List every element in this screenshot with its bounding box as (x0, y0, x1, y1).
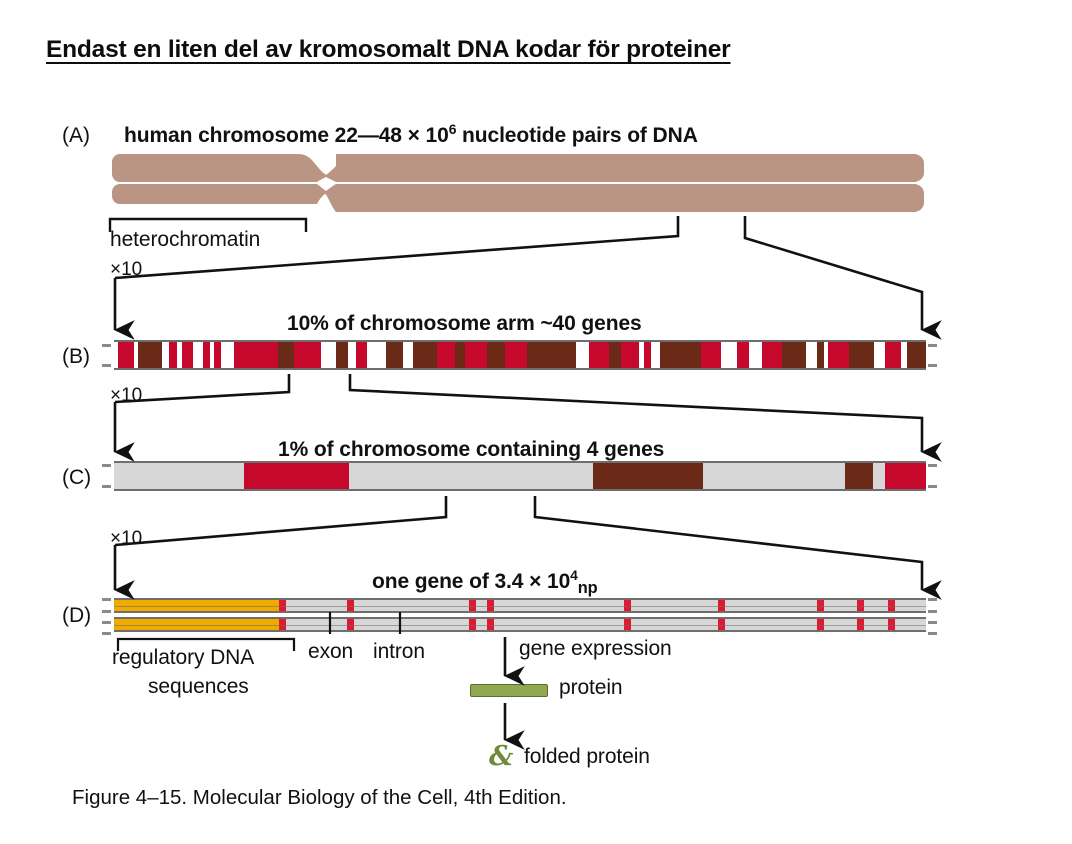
panel-b-band (356, 342, 367, 368)
zoom-label-b-to-c: ×10 (110, 385, 142, 407)
panel-c-heading: 1% of chromosome containing 4 genes (278, 438, 664, 462)
slide-canvas: Endast en liten del av kromosomalt DNA k… (0, 0, 1072, 844)
chromatid-upper-right (324, 154, 924, 182)
panel-a-heading-post: nucleotide pairs of DNA (456, 124, 697, 147)
panel-c-gene-band (885, 463, 926, 489)
panel-c-edge-dash-right-bottom (928, 485, 937, 488)
regulatory-dna-label-line2: sequences (148, 675, 249, 699)
panel-d-strand-bottom (114, 617, 926, 632)
panel-b-band (234, 342, 278, 368)
panel-b-band (828, 342, 848, 368)
panel-b-band (278, 342, 294, 368)
panel-b-band (885, 342, 901, 368)
protein-rod-graphic (470, 684, 548, 697)
heterochromatin-label: heterochromatin (110, 228, 260, 252)
figure-caption: Figure 4–15. Molecular Biology of the Ce… (72, 786, 567, 810)
chromatid-lower-right (324, 184, 924, 212)
chromatid-lower-left (112, 184, 328, 204)
panel-c-label: (C) (62, 466, 91, 490)
panel-b-band (621, 342, 639, 368)
panel-b-band (527, 342, 576, 368)
tie-c-to-d-left (115, 496, 446, 545)
panel-b-band (762, 342, 782, 368)
panel-b-edge-dash-left-top (102, 344, 111, 347)
panel-d-label: (D) (62, 604, 91, 628)
gene-expression-label: gene expression (519, 637, 672, 661)
panel-b-band (413, 342, 437, 368)
chromatid-upper-left (112, 154, 328, 182)
panel-c-gene-band (845, 463, 873, 489)
panel-d-heading-post: np (578, 579, 598, 597)
panel-b-band (138, 342, 162, 368)
protein-label: protein (559, 676, 623, 700)
panel-a-heading: human chromosome 22—48 × 106 nucleotide … (124, 124, 698, 148)
chromosome-22-graphic (112, 152, 924, 214)
panel-b-band (214, 342, 221, 368)
panel-d-edge-dash-l2 (102, 610, 111, 613)
panel-d-heading-pre: one gene of 3.4 × 10 (372, 570, 570, 593)
regulatory-dna-label-line1: regulatory DNA (112, 646, 254, 670)
panel-b-band (609, 342, 621, 368)
panel-a-label: (A) (62, 124, 90, 148)
panel-b-band (118, 342, 135, 368)
intron-label: intron (373, 640, 425, 664)
panel-c-genes (114, 461, 926, 491)
panel-b-band (737, 342, 749, 368)
panel-d-edge-dash-l4 (102, 632, 111, 635)
exon-label: exon (308, 640, 353, 664)
panel-b-edge-dash-right-top (928, 344, 937, 347)
panel-b-bands (114, 340, 926, 370)
panel-b-bar (114, 340, 926, 370)
panel-b-band (701, 342, 721, 368)
panel-b-edge-dash-right-bottom (928, 364, 937, 367)
panel-d-heading: one gene of 3.4 × 104np (372, 570, 598, 594)
panel-b-band (465, 342, 487, 368)
panel-b-band (182, 342, 194, 368)
panel-b-band (505, 342, 527, 368)
zoom-label-c-to-d: ×10 (110, 528, 142, 550)
panel-d-edge-dash-r2 (928, 610, 937, 613)
panel-c-edge-dash-right-top (928, 464, 937, 467)
panel-c-bar (114, 461, 926, 491)
panel-b-band (437, 342, 456, 368)
panel-b-band (817, 342, 824, 368)
panel-d-heading-exponent: 4 (570, 567, 578, 583)
folded-protein-icon: & (489, 743, 513, 770)
zoom-label-a-to-b: ×10 (110, 259, 142, 281)
panel-a-heading-pre: human chromosome 22—48 × 10 (124, 124, 449, 147)
panel-b-band (455, 342, 464, 368)
strand-midline (114, 606, 926, 608)
panel-b-band (169, 342, 177, 368)
panel-b-band (386, 342, 403, 368)
panel-d-edge-dash-r1 (928, 598, 937, 601)
panel-d-edge-dash-l1 (102, 598, 111, 601)
folded-protein-label: folded protein (524, 745, 650, 769)
panel-b-band (487, 342, 505, 368)
page-title: Endast en liten del av kromosomalt DNA k… (46, 36, 731, 64)
panel-b-edge-dash-left-bottom (102, 364, 111, 367)
panel-b-band (644, 342, 651, 368)
panel-b-band (907, 342, 926, 368)
panel-b-band (336, 342, 349, 368)
panel-c-gene-band (593, 463, 703, 489)
panel-b-band (660, 342, 701, 368)
panel-d-strand-top (114, 598, 926, 613)
panel-d-edge-dash-l3 (102, 621, 111, 624)
panel-d-edge-dash-r3 (928, 621, 937, 624)
panel-c-gene-band (244, 463, 350, 489)
panel-c-edge-dash-left-bottom (102, 485, 111, 488)
strand-midline (114, 625, 926, 627)
panel-b-label: (B) (62, 345, 90, 369)
panel-b-band (589, 342, 609, 368)
panel-b-band (782, 342, 806, 368)
tie-a-to-b-right (745, 216, 922, 330)
panel-d-edge-dash-r4 (928, 632, 937, 635)
panel-b-band (203, 342, 210, 368)
panel-b-heading: 10% of chromosome arm ~40 genes (287, 312, 642, 336)
panel-b-band (849, 342, 874, 368)
panel-c-edge-dash-left-top (102, 464, 111, 467)
panel-b-band (294, 342, 321, 368)
